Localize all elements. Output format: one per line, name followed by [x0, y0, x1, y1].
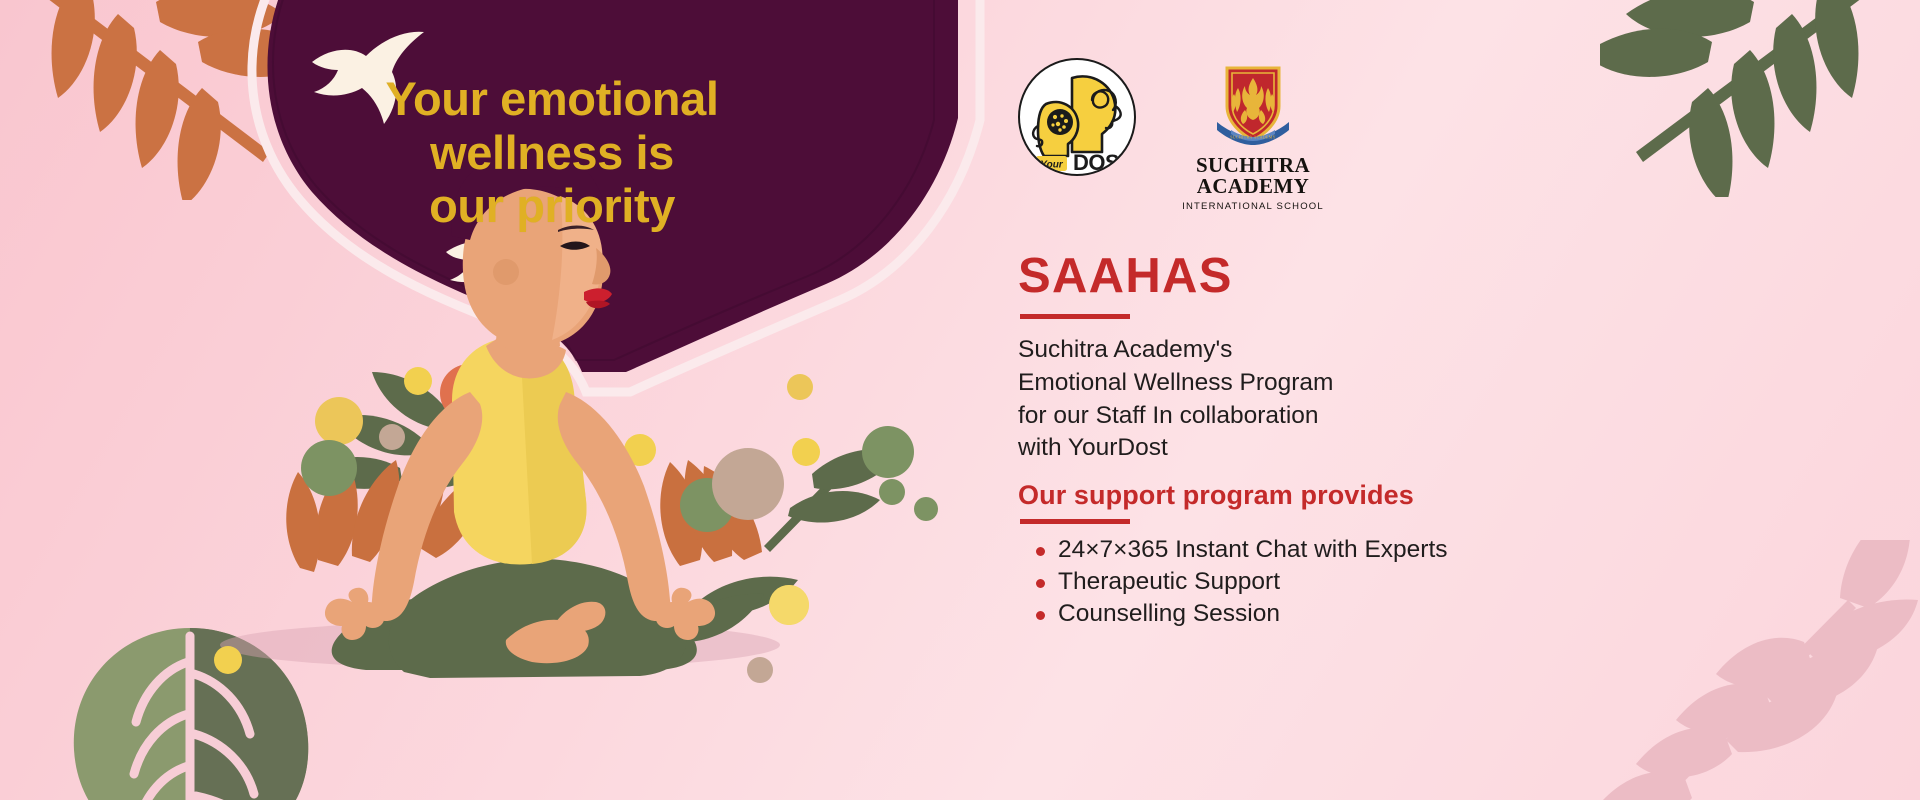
suchitra-name-line-1: SUCHITRA: [1196, 155, 1310, 176]
suchitra-crest-icon: SUCHITRA ACADEMY: [1207, 60, 1299, 152]
suchitra-wordmark: SUCHITRA ACADEMY: [1196, 155, 1310, 197]
yourdost-logo-mark-icon: Your DOST: [1020, 60, 1136, 176]
list-item: Counselling Session: [1034, 600, 1448, 628]
program-description: Suchitra Academy's Emotional Wellness Pr…: [1018, 334, 1448, 465]
suchitra-subtitle: INTERNATIONAL SCHOOL: [1182, 201, 1324, 212]
headline-line-3: our priority: [352, 179, 752, 233]
headline-line-1: Your emotional: [352, 72, 752, 126]
headline: Your emotional wellness is our priority: [352, 72, 752, 233]
list-item: Therapeutic Support: [1034, 568, 1448, 596]
support-section-title: Our support program provides: [1018, 480, 1414, 511]
suchitra-name-line-2: ACADEMY: [1196, 176, 1310, 197]
description-line-4: with YourDost: [1018, 432, 1448, 465]
promo-banner: Your emotional wellness is our priority: [0, 0, 1920, 800]
description-line-2: Emotional Wellness Program: [1018, 367, 1448, 400]
content-panel: Your DOST: [1018, 0, 1718, 800]
yourdost-your-text: Your: [1040, 160, 1064, 171]
headline-line-2: wellness is: [352, 126, 752, 180]
support-list: 24×7×365 Instant Chat with Experts Thera…: [1034, 536, 1448, 632]
yourdost-dost-text: DOST: [1073, 150, 1133, 175]
description-line-3: for our Staff In collaboration: [1018, 400, 1448, 433]
subtitle-underline: [1020, 519, 1130, 524]
suchitra-ribbon-motto: SUCHITRA ACADEMY: [1230, 135, 1276, 140]
page-title: SAAHAS: [1018, 252, 1233, 301]
yourdost-logo: Your DOST: [1018, 58, 1136, 176]
suchitra-academy-logo: SUCHITRA ACADEMY SUCHITRA ACADEMY INTERN…: [1178, 58, 1328, 212]
list-item: 24×7×365 Instant Chat with Experts: [1034, 536, 1448, 564]
logo-row: Your DOST: [1018, 58, 1328, 212]
description-line-1: Suchitra Academy's: [1018, 334, 1448, 367]
title-underline: [1020, 314, 1130, 319]
